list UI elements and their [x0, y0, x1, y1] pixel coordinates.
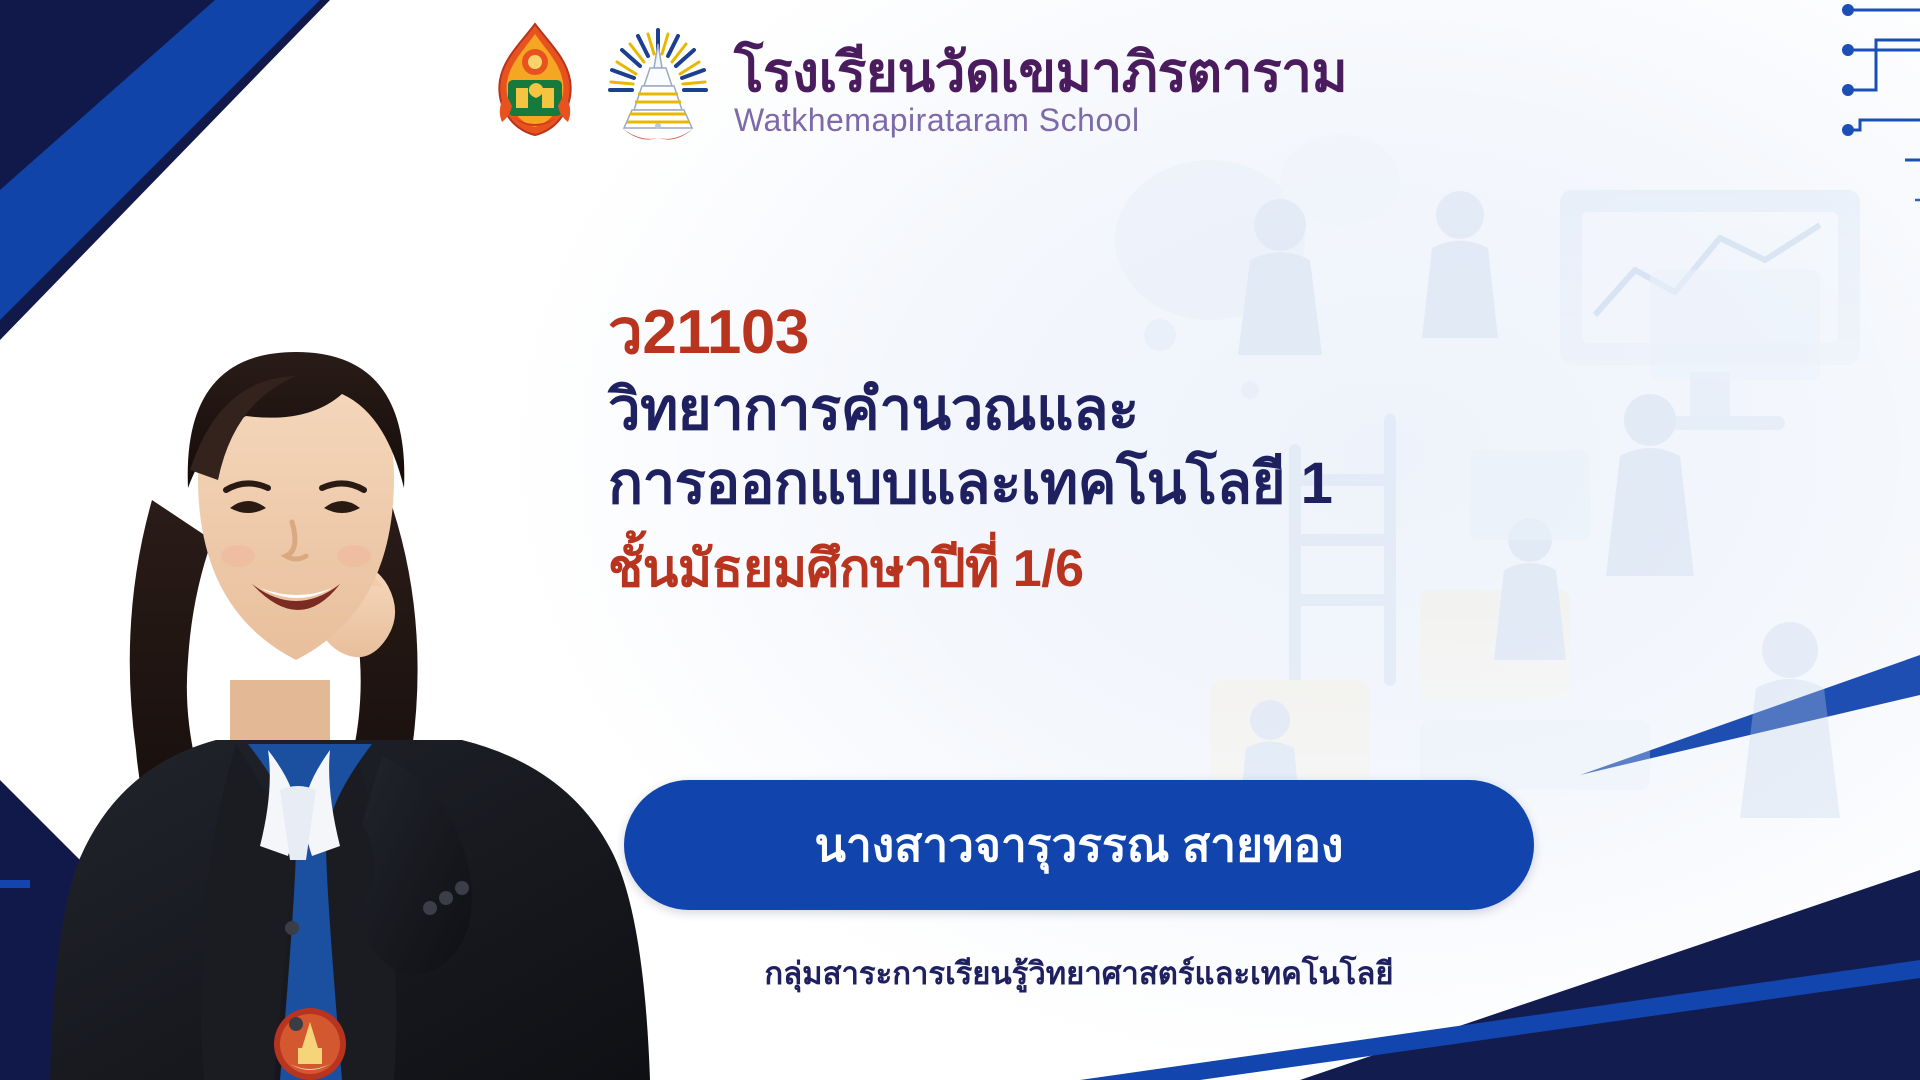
subject-line-1: วิทยาการคำนวณและ — [608, 377, 1139, 442]
school-name-english: Watkhemapirataram School — [734, 102, 1347, 139]
subject-name: วิทยาการคำนวณและ การออกแบบและเทคโนโลยี 1 — [608, 373, 1548, 521]
course-code: ว21103 — [608, 300, 1548, 365]
royal-garuda-crest-icon — [480, 22, 590, 137]
left-edge-navy-bar — [0, 860, 60, 870]
course-title-block: ว21103 วิทยาการคำนวณและ การออกแบบและเทคโ… — [608, 300, 1548, 600]
slide-canvas: โรงเรียนวัดเขมาภิรตาราม Watkhemapiratara… — [0, 0, 1920, 1080]
school-header: โรงเรียนวัดเขมาภิรตาราม Watkhemapiratara… — [480, 22, 1347, 146]
school-name-group: โรงเรียนวัดเขมาภิรตาราม Watkhemapiratara… — [734, 44, 1347, 139]
department-caption: กลุ่มสาระการเรียนรู้วิทยาศาสตร์และเทคโนโ… — [624, 948, 1534, 998]
grade-level: ชั้นมัธยมศึกษาปีที่ 1/6 — [608, 538, 1548, 600]
bottom-left-navy-wedge — [0, 780, 300, 1080]
school-name-thai: โรงเรียนวัดเขมาภิรตาราม — [734, 44, 1347, 100]
teacher-name-pill: นางสาวจารุวรรณ สายทอง — [624, 780, 1534, 910]
top-left-navy-wedge — [0, 0, 330, 340]
left-edge-blue-bar — [0, 880, 30, 888]
right-middle-blue-wedge — [1580, 655, 1920, 775]
top-left-blue-stripe — [0, 0, 360, 380]
teacher-portrait — [30, 320, 650, 1080]
subject-line-2: การออกแบบและเทคโนโลยี 1 — [608, 447, 1548, 521]
teacher-name: นางสาวจารุวรรณ สายทอง — [815, 809, 1344, 882]
school-stupa-emblem-icon — [604, 24, 712, 146]
